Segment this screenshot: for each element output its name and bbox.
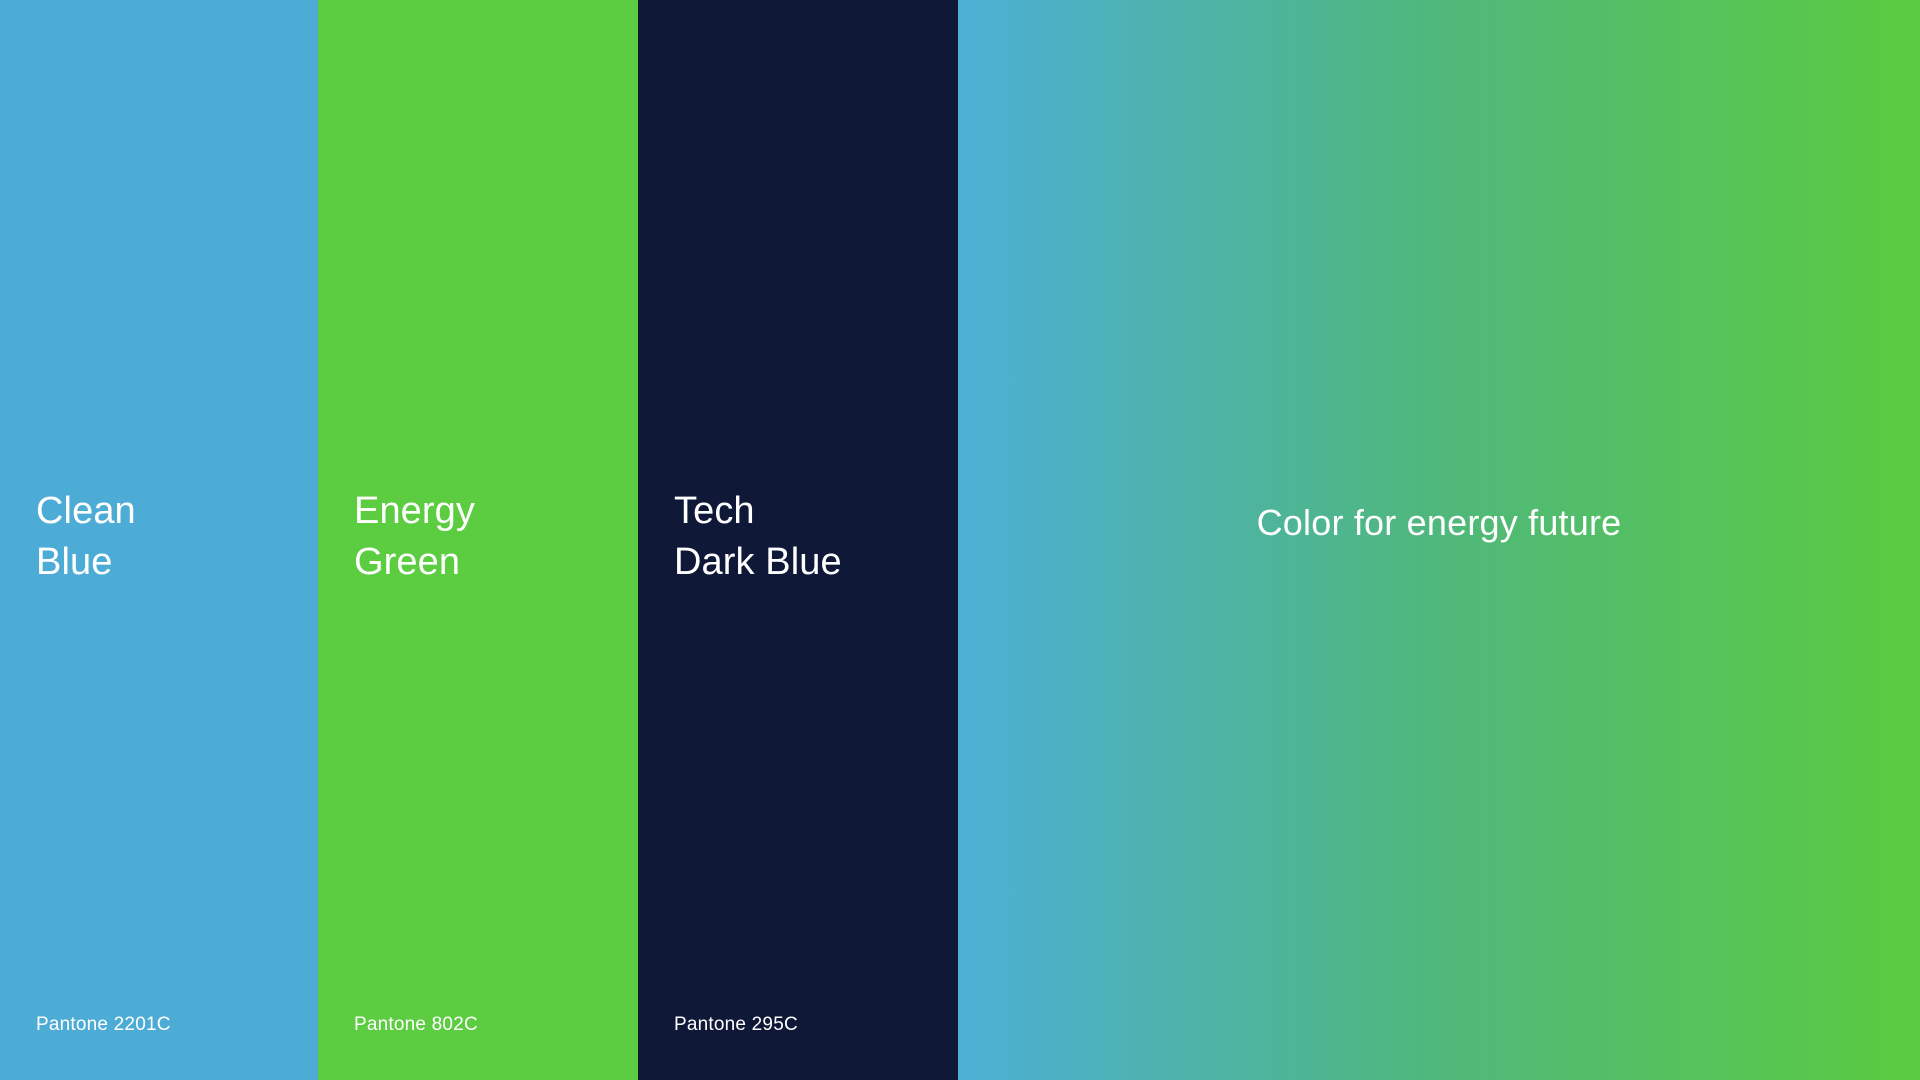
swatch-pantone-code-energy-green: Pantone 802C	[354, 1012, 478, 1038]
gradient-panel[interactable]: Color for energy future	[958, 0, 1920, 1080]
color-swatch-tech-dark-blue[interactable]: Tech Dark Blue Pantone 295C	[638, 0, 958, 1080]
swatch-pantone-code-clean-blue: Pantone 2201C	[36, 1012, 171, 1038]
color-swatch-clean-blue[interactable]: Clean Blue Pantone 2201C	[0, 0, 318, 1080]
swatch-name-energy-green: Energy Green	[354, 486, 475, 588]
swatch-name-tech-dark-blue: Tech Dark Blue	[674, 486, 842, 588]
color-palette-board: Clean Blue Pantone 2201C Energy Green Pa…	[0, 0, 1920, 1080]
swatch-name-clean-blue: Clean Blue	[36, 486, 136, 588]
color-swatch-energy-green[interactable]: Energy Green Pantone 802C	[318, 0, 638, 1080]
gradient-caption: Color for energy future	[1257, 499, 1622, 547]
swatch-pantone-code-tech-dark-blue: Pantone 295C	[674, 1012, 798, 1038]
